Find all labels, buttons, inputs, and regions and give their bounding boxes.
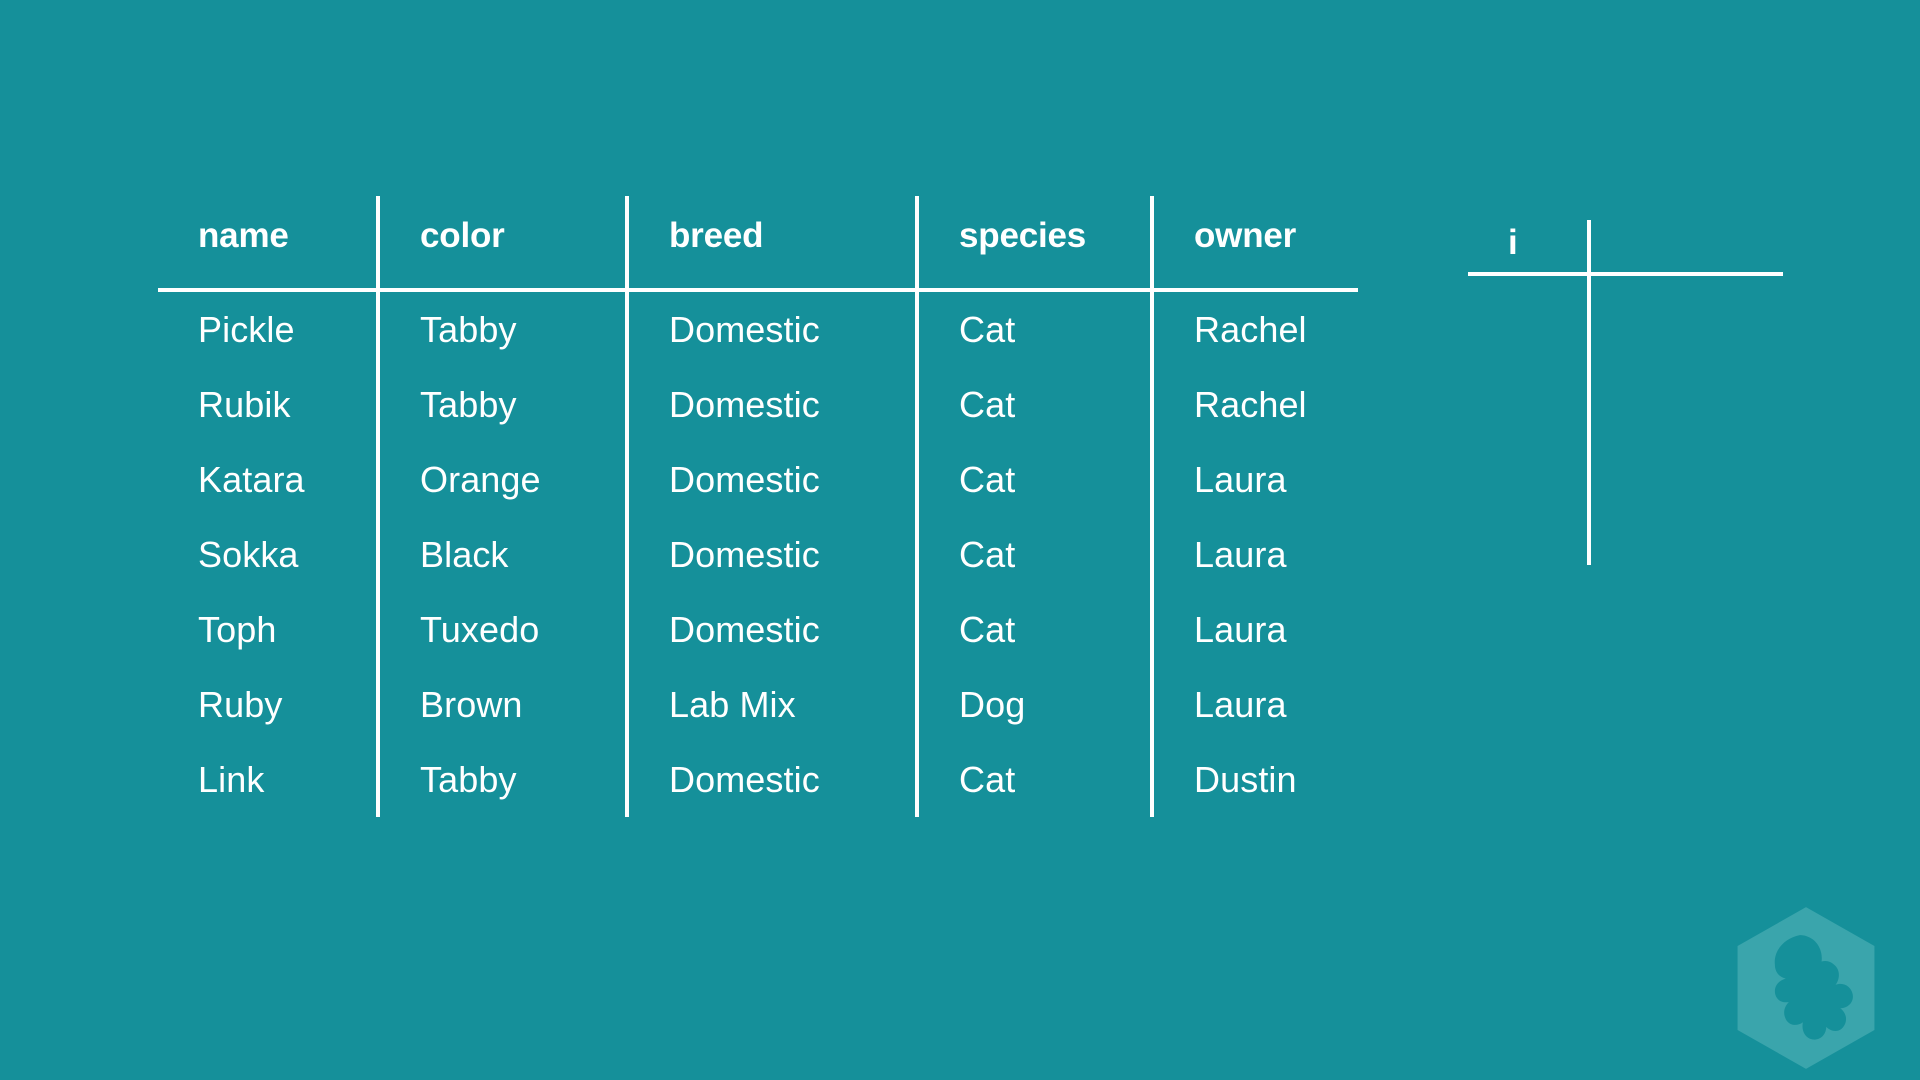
cell-breed: Domestic xyxy=(627,592,917,667)
table-body: Pickle Tabby Domestic Cat Rachel Rubik T… xyxy=(158,290,1358,817)
cell-owner: Laura xyxy=(1152,517,1358,592)
table-row: Katara Orange Domestic Cat Laura xyxy=(158,442,1358,517)
cell-owner: Dustin xyxy=(1152,742,1358,817)
table-row: Sokka Black Domestic Cat Laura xyxy=(158,517,1358,592)
table-row: Link Tabby Domestic Cat Dustin xyxy=(158,742,1358,817)
cell-species: Cat xyxy=(917,517,1152,592)
cell-name: Pickle xyxy=(158,290,378,367)
extra-column-header: i xyxy=(1468,196,1783,276)
pets-table: name color breed species owner Pickle Ta… xyxy=(158,196,1358,817)
cell-species: Cat xyxy=(917,742,1152,817)
extra-column-divider xyxy=(1587,220,1591,565)
column-header-owner[interactable]: owner xyxy=(1152,196,1358,290)
cell-color: Brown xyxy=(378,667,627,742)
cell-species: Dog xyxy=(917,667,1152,742)
cell-color: Orange xyxy=(378,442,627,517)
column-header-i[interactable]: i xyxy=(1508,225,1518,260)
table-row: Pickle Tabby Domestic Cat Rachel xyxy=(158,290,1358,367)
cell-name: Link xyxy=(158,742,378,817)
extra-column-i: i xyxy=(1468,196,1783,276)
cell-owner: Laura xyxy=(1152,667,1358,742)
cell-owner: Rachel xyxy=(1152,367,1358,442)
cell-name: Ruby xyxy=(158,667,378,742)
cell-color: Tabby xyxy=(378,367,627,442)
table-row: Rubik Tabby Domestic Cat Rachel xyxy=(158,367,1358,442)
cell-name: Rubik xyxy=(158,367,378,442)
cell-color: Black xyxy=(378,517,627,592)
column-header-name[interactable]: name xyxy=(158,196,378,290)
table-header-row: name color breed species owner xyxy=(158,196,1358,290)
slide-canvas: name color breed species owner Pickle Ta… xyxy=(0,0,1920,1080)
cell-owner: Rachel xyxy=(1152,290,1358,367)
cell-name: Toph xyxy=(158,592,378,667)
table-row: Ruby Brown Lab Mix Dog Laura xyxy=(158,667,1358,742)
cell-color: Tabby xyxy=(378,742,627,817)
cell-color: Tuxedo xyxy=(378,592,627,667)
cell-species: Cat xyxy=(917,442,1152,517)
cell-breed: Domestic xyxy=(627,517,917,592)
cell-owner: Laura xyxy=(1152,442,1358,517)
column-header-species[interactable]: species xyxy=(917,196,1152,290)
cell-species: Cat xyxy=(917,592,1152,667)
cell-breed: Domestic xyxy=(627,742,917,817)
egghead-hex-logo-icon xyxy=(1726,904,1886,1072)
cell-breed: Domestic xyxy=(627,367,917,442)
cell-breed: Domestic xyxy=(627,290,917,367)
table-header: name color breed species owner xyxy=(158,196,1358,290)
cell-color: Tabby xyxy=(378,290,627,367)
cell-name: Katara xyxy=(158,442,378,517)
cell-owner: Laura xyxy=(1152,592,1358,667)
cell-species: Cat xyxy=(917,290,1152,367)
pets-table-container: name color breed species owner Pickle Ta… xyxy=(158,196,1358,817)
cell-breed: Lab Mix xyxy=(627,667,917,742)
cell-species: Cat xyxy=(917,367,1152,442)
column-header-breed[interactable]: breed xyxy=(627,196,917,290)
table-row: Toph Tuxedo Domestic Cat Laura xyxy=(158,592,1358,667)
cell-breed: Domestic xyxy=(627,442,917,517)
cell-name: Sokka xyxy=(158,517,378,592)
column-header-color[interactable]: color xyxy=(378,196,627,290)
